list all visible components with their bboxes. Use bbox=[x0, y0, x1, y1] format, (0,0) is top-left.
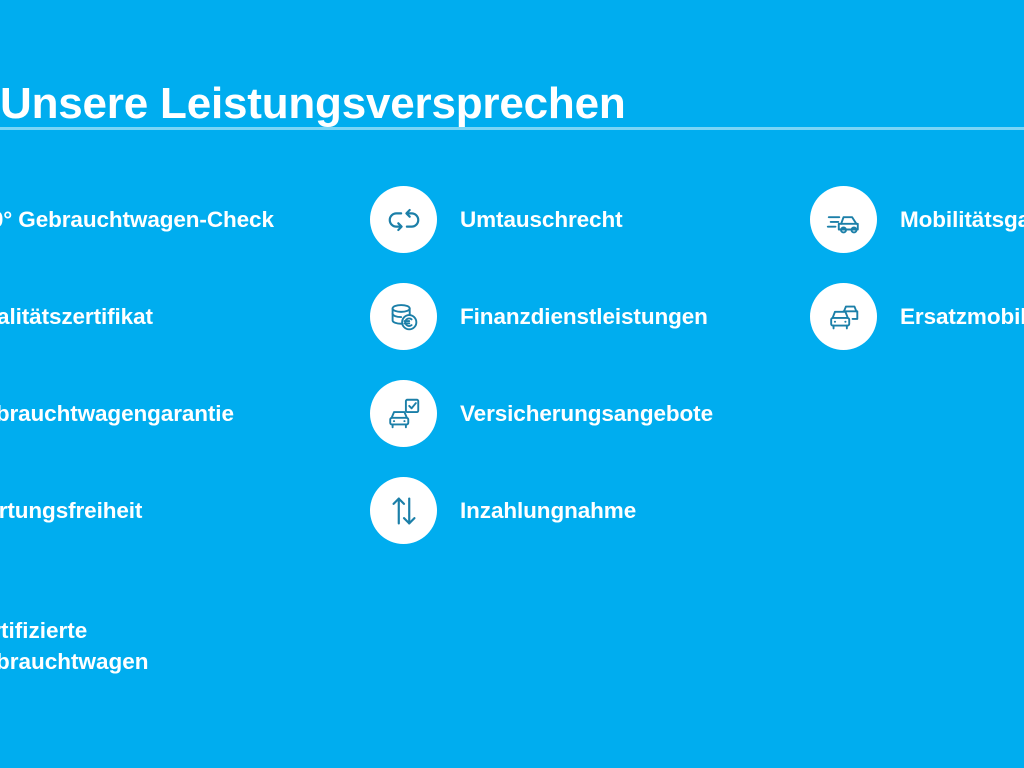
certified-line-1: Zertifizierte bbox=[0, 616, 149, 647]
promise-item-versicherungsangebote[interactable]: Versicherungsangebote bbox=[370, 380, 790, 477]
promise-label: Mobilitätsgarantie bbox=[900, 186, 1024, 253]
promise-item-inzahlungnahme[interactable]: Inzahlungnahme bbox=[370, 477, 790, 574]
promise-label: Umtauschrecht bbox=[460, 186, 623, 253]
certified-line-2: Gebrauchtwagen bbox=[0, 647, 149, 678]
promise-label: 360° Gebrauchtwagen-Check bbox=[0, 186, 274, 253]
header-divider bbox=[0, 127, 1024, 130]
promise-label: Inzahlungnahme bbox=[460, 477, 636, 544]
promise-label: Ersatzmobilität bbox=[900, 283, 1024, 350]
car-motion-icon bbox=[810, 186, 877, 253]
promise-item-umtauschrecht[interactable]: Umtauschrecht bbox=[370, 186, 790, 283]
two-cars-icon bbox=[810, 283, 877, 350]
certified-used-cars-block: Zertifizierte Gebrauchtwagen bbox=[0, 616, 149, 677]
promise-label: Versicherungsangebote bbox=[460, 380, 713, 447]
promise-column-2: Umtauschrecht Finanzdienstleistungen bbox=[370, 186, 790, 574]
promise-label: Wartungsfreiheit bbox=[0, 477, 142, 544]
exchange-arrows-icon bbox=[370, 186, 437, 253]
promise-item-qualitaetszertifikat[interactable]: Qualitätszertifikat bbox=[0, 283, 346, 380]
promise-label: Qualitätszertifikat bbox=[0, 283, 153, 350]
coins-euro-icon bbox=[370, 283, 437, 350]
promo-banner: Unsere Leistungsversprechen 360° Gebrauc… bbox=[0, 0, 1024, 768]
page-title: Unsere Leistungsversprechen bbox=[0, 82, 626, 126]
promise-item-finanzdienstleistungen[interactable]: Finanzdienstleistungen bbox=[370, 283, 790, 380]
promise-item-ersatzmobilitaet[interactable]: Ersatzmobilität bbox=[810, 283, 1024, 380]
promise-item-wartungsfreiheit[interactable]: Wartungsfreiheit bbox=[0, 477, 346, 574]
car-checklist-icon bbox=[370, 380, 437, 447]
promise-item-gebrauchtwagengarantie[interactable]: Gebrauchtwagengarantie bbox=[0, 380, 346, 477]
up-down-arrows-icon bbox=[370, 477, 437, 544]
promise-column-3: Mobilitätsgarantie Ersatzmobilität bbox=[810, 186, 1024, 380]
promise-column-1: 360° Gebrauchtwagen-Check Qualitätszerti… bbox=[0, 186, 346, 574]
promise-item-gebrauchtwagen-check[interactable]: 360° Gebrauchtwagen-Check bbox=[0, 186, 346, 283]
promise-label: Finanzdienstleistungen bbox=[460, 283, 708, 350]
promise-label: Gebrauchtwagengarantie bbox=[0, 380, 234, 447]
promise-item-mobilitaetsgarantie[interactable]: Mobilitätsgarantie bbox=[810, 186, 1024, 283]
